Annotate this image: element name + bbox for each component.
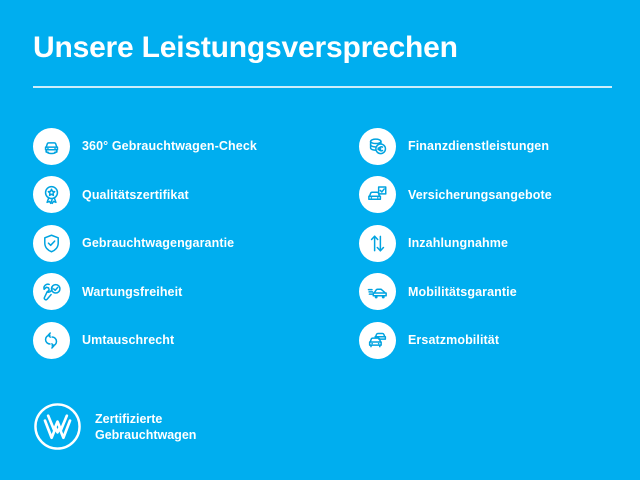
list-item-label: Qualitätszertifikat xyxy=(82,188,189,202)
page-title: Unsere Leistungsversprechen xyxy=(33,30,613,66)
up-down-arrows-icon xyxy=(359,225,396,262)
benefit-column-left: 360° Gebrauchtwagen-Check Qualitätszerti… xyxy=(33,122,333,365)
list-item-label: 360° Gebrauchtwagen-Check xyxy=(82,139,257,153)
list-item[interactable]: Ersatzmobilität xyxy=(359,316,634,365)
list-item-label: Inzahlungnahme xyxy=(408,236,508,250)
brand-line-2: Gebrauchtwagen xyxy=(95,427,196,443)
wrench-check-icon xyxy=(33,273,70,310)
list-item-label: Finanzdienstleistungen xyxy=(408,139,549,153)
list-item[interactable]: Wartungsfreiheit xyxy=(33,268,333,317)
car-checkbox-icon xyxy=(359,176,396,213)
brand-lockup: Zertifizierte Gebrauchtwagen xyxy=(33,402,196,451)
coins-euro-icon xyxy=(359,128,396,165)
exchange-arrows-icon xyxy=(33,322,70,359)
brand-line-1: Zertifizierte xyxy=(95,411,196,427)
list-item[interactable]: Gebrauchtwagengarantie xyxy=(33,219,333,268)
header: Unsere Leistungsversprechen xyxy=(33,30,613,66)
list-item[interactable]: Finanzdienstleistungen xyxy=(359,122,634,171)
list-item-label: Versicherungsangebote xyxy=(408,188,552,202)
list-item[interactable]: Umtauschrecht xyxy=(33,316,333,365)
list-item-label: Umtauschrecht xyxy=(82,333,174,347)
promise-slide: Unsere Leistungsversprechen 360° xyxy=(0,0,640,480)
benefit-column-right: Finanzdienstleistungen Versicherungsange… xyxy=(359,122,634,365)
car-360-check-icon xyxy=(33,128,70,165)
brand-text: Zertifizierte Gebrauchtwagen xyxy=(95,411,196,443)
list-item[interactable]: Versicherungsangebote xyxy=(359,171,634,220)
list-item-label: Ersatzmobilität xyxy=(408,333,499,347)
two-cars-icon xyxy=(359,322,396,359)
shield-check-icon xyxy=(33,225,70,262)
vw-roundel-logo xyxy=(33,402,82,451)
list-item-label: Gebrauchtwagengarantie xyxy=(82,236,234,250)
award-rosette-icon xyxy=(33,176,70,213)
list-item[interactable]: Mobilitätsgarantie xyxy=(359,268,634,317)
list-item[interactable]: Inzahlungnahme xyxy=(359,219,634,268)
list-item[interactable]: Qualitätszertifikat xyxy=(33,171,333,220)
list-item[interactable]: 360° Gebrauchtwagen-Check xyxy=(33,122,333,171)
car-motion-icon xyxy=(359,273,396,310)
list-item-label: Wartungsfreiheit xyxy=(82,285,182,299)
title-divider xyxy=(33,86,612,88)
list-item-label: Mobilitätsgarantie xyxy=(408,285,517,299)
